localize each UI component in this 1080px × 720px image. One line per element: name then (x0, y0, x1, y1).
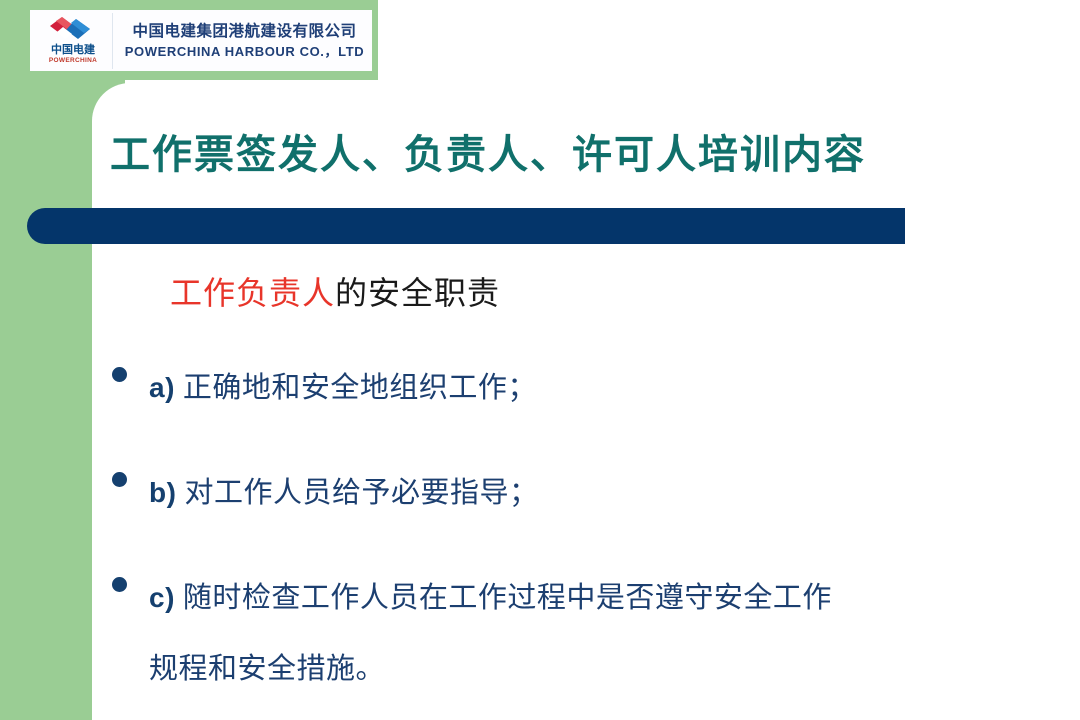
bullet-dot-icon (112, 472, 127, 487)
bullet-label: 对工作人员给予必要指导； (184, 475, 538, 509)
company-name-en: POWERCHINA HARBOUR CO.，LTD (123, 42, 366, 61)
bullet-dot-icon (112, 367, 127, 382)
subheading-highlight: 工作负责人 (170, 274, 335, 312)
slide-title: 工作票签发人、负责人、许可人培训内容 (110, 128, 1010, 182)
bullet-dot-icon (112, 577, 127, 592)
bullet-body: a)正确地和安全地组织工作； (149, 352, 1052, 423)
bullet-marker: c) (149, 582, 175, 613)
powerchina-logo-mark: 中国电建 POWERCHINA (34, 13, 113, 69)
section-subheading: 工作负责人的安全职责 (170, 270, 1052, 316)
subheading-rest: 的安全职责 (335, 274, 500, 312)
bullet-label: 随时检查工作人员在工作过程中是否遵守安全工作 (183, 580, 832, 614)
bullet-marker: a) (149, 372, 175, 403)
bullet-list: a)正确地和安全地组织工作； b)对工作人员给予必要指导； c)随时检查工作人员… (92, 352, 1052, 703)
title-underline-bar (27, 208, 905, 244)
bullet-continuation: 规程和安全措施。 (149, 633, 1052, 703)
company-name-block: 中国电建集团港航建设有限公司 POWERCHINA HARBOUR CO.，LT… (113, 21, 372, 61)
bullet-body: c)随时检查工作人员在工作过程中是否遵守安全工作规程和安全措施。 (149, 562, 1052, 703)
slide-body: 工作负责人的安全职责 a)正确地和安全地组织工作； b)对工作人员给予必要指导；… (92, 270, 1052, 720)
bullet-body: b)对工作人员给予必要指导； (149, 457, 1052, 528)
bullet-marker: b) (149, 477, 176, 508)
bullet-label: 正确地和安全地组织工作； (183, 370, 537, 404)
powerchina-diamond-logo-icon (50, 17, 96, 43)
list-item: c)随时检查工作人员在工作过程中是否遵守安全工作规程和安全措施。 (92, 562, 1052, 703)
list-item: b)对工作人员给予必要指导； (92, 457, 1052, 528)
slide-canvas: 中国电建 POWERCHINA 中国电建集团港航建设有限公司 POWERCHIN… (0, 0, 1080, 720)
logo-mark-cn-label: 中国电建 (51, 44, 95, 56)
company-name-cn: 中国电建集团港航建设有限公司 (123, 21, 366, 42)
company-logo-box: 中国电建 POWERCHINA 中国电建集团港航建设有限公司 POWERCHIN… (30, 10, 372, 71)
logo-mark-en-label: POWERCHINA (49, 56, 97, 65)
list-item: a)正确地和安全地组织工作； (92, 352, 1052, 423)
